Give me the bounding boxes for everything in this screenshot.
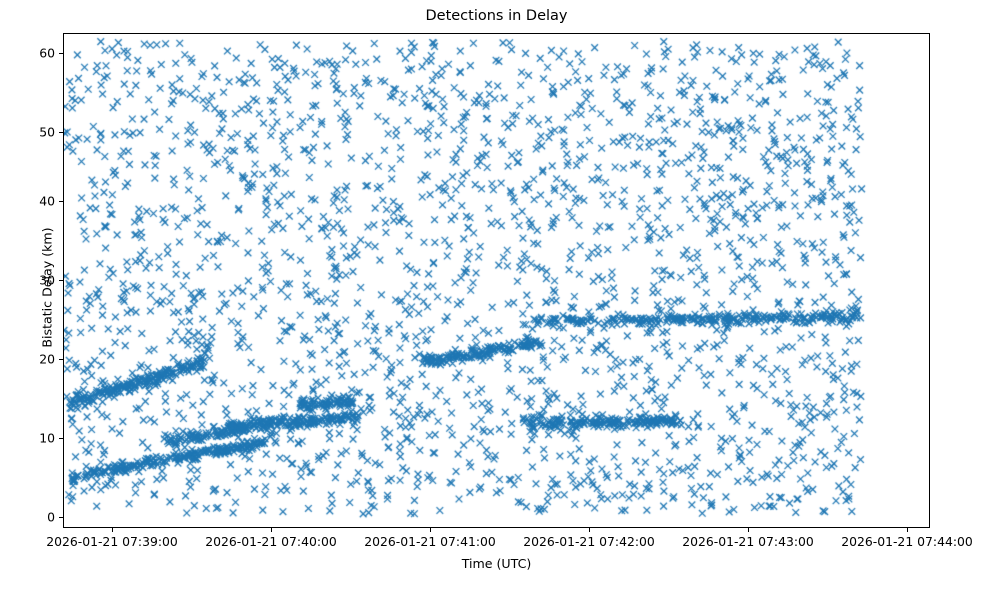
y-tick-mark <box>59 359 63 360</box>
x-tick-label: 2026-01-21 07:41:00 <box>364 534 496 549</box>
y-axis-label: Bistatic Delay (km) <box>40 138 55 438</box>
x-tick-label: 2026-01-21 07:39:00 <box>46 534 178 549</box>
x-tick-mark <box>112 528 113 532</box>
x-tick-label: 2026-01-21 07:43:00 <box>682 534 814 549</box>
y-tick-mark <box>59 201 63 202</box>
x-tick-mark <box>430 528 431 532</box>
y-tick-mark <box>59 280 63 281</box>
y-tick-label: 60 <box>39 46 55 61</box>
y-tick-label: 0 <box>47 510 55 525</box>
y-tick-mark <box>59 132 63 133</box>
x-tick-mark <box>271 528 272 532</box>
x-tick-mark <box>589 528 590 532</box>
y-tick-mark <box>59 438 63 439</box>
y-tick-mark <box>59 53 63 54</box>
x-tick-label: 2026-01-21 07:44:00 <box>841 534 973 549</box>
scatter-plot-canvas <box>64 34 929 527</box>
x-tick-mark <box>748 528 749 532</box>
x-axis-label: Time (UTC) <box>63 556 930 571</box>
x-tick-label: 2026-01-21 07:40:00 <box>205 534 337 549</box>
plot-area <box>63 33 930 528</box>
matplotlib-figure: Detections in Delay 2026-01-21 07:39:002… <box>0 0 987 590</box>
y-tick-mark <box>59 517 63 518</box>
page-title: Detections in Delay <box>63 8 930 24</box>
x-tick-mark <box>907 528 908 532</box>
x-tick-label: 2026-01-21 07:42:00 <box>523 534 655 549</box>
